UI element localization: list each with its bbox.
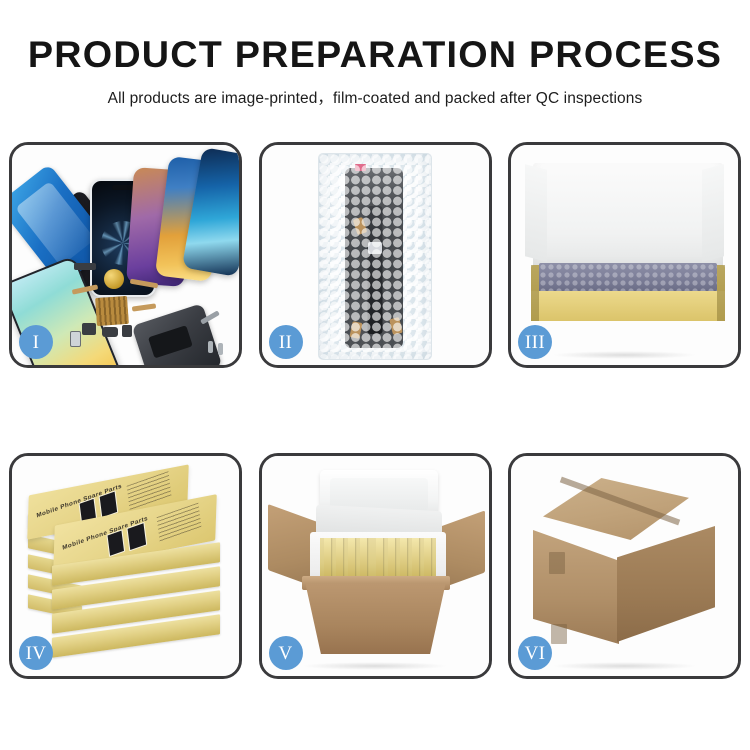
drop-shadow <box>552 662 697 670</box>
carton-body <box>306 584 446 654</box>
box-text-lines-2 <box>157 503 202 543</box>
product-preparation-infographic: PRODUCT PREPARATION PROCESS All products… <box>0 0 750 750</box>
white-connector-icon <box>368 242 382 254</box>
step-card-1[interactable]: I <box>9 142 242 368</box>
box-lid-flap-left <box>525 164 547 261</box>
box-screen-thumb-2b <box>126 522 147 551</box>
box-edge-right <box>717 265 725 321</box>
box-edge-left <box>531 265 539 321</box>
step-badge-2: II <box>269 325 303 359</box>
chip-array-icon <box>95 296 129 326</box>
small-part-icon-3 <box>102 327 118 337</box>
step-badge-5: V <box>269 636 303 670</box>
inner-box-5 <box>376 538 383 580</box>
wrapped-part-strip <box>368 206 383 334</box>
bubble-wrap-bag <box>318 153 432 360</box>
inner-box-1 <box>324 538 331 580</box>
small-part-icon-1 <box>74 263 96 270</box>
step-card-4[interactable]: Mobile Phone Spare Parts Mobile Phone Sp… <box>9 453 242 679</box>
step-card-5[interactable]: V <box>259 453 492 679</box>
step-card-6[interactable]: VI <box>508 453 741 679</box>
small-part-icon-4 <box>122 325 132 337</box>
small-part-icon-2 <box>82 323 96 335</box>
inner-box-3 <box>348 538 355 580</box>
inner-box-7 <box>400 538 407 580</box>
step-badge-3: III <box>518 325 552 359</box>
screw-icon-2 <box>218 343 223 355</box>
drop-shadow <box>552 351 697 359</box>
step-badge-6: VI <box>518 636 552 670</box>
box-lid-flap-right <box>702 164 724 261</box>
inner-box-8 <box>412 538 419 580</box>
inner-box-6 <box>388 538 395 580</box>
phone-back-housing-icon <box>132 303 223 365</box>
box-screen-thumb-2a <box>106 529 125 557</box>
step-badge-4: IV <box>19 636 53 670</box>
inner-box-2 <box>336 538 343 580</box>
yellow-box-front-wall <box>531 291 725 321</box>
header: PRODUCT PREPARATION PROCESS All products… <box>0 0 750 108</box>
small-part-icon-5 <box>70 331 81 347</box>
screw-icon-1 <box>208 341 213 353</box>
page-subtitle: All products are image-printed，film-coat… <box>0 75 750 108</box>
sealed-carton-top <box>543 478 689 540</box>
carton-tape-upper <box>549 552 565 574</box>
inner-box-4 <box>360 538 367 580</box>
inner-box-9 <box>424 538 431 580</box>
step-card-2[interactable]: II <box>259 142 492 368</box>
step-card-3[interactable]: III <box>508 142 741 368</box>
inner-yellow-boxes <box>320 538 436 580</box>
page-title: PRODUCT PREPARATION PROCESS <box>0 0 750 75</box>
carton-tape-lower <box>551 624 567 644</box>
gold-coil-part-icon <box>104 269 124 289</box>
sealed-carton-left-face <box>533 530 619 644</box>
flex-cable-icon-3 <box>132 303 156 311</box>
white-box-lid <box>533 163 723 271</box>
sealed-carton-right-face <box>617 526 715 642</box>
drop-shadow <box>302 662 447 670</box>
pink-label-icon <box>355 164 366 171</box>
box-stack: Mobile Phone Spare Parts Mobile Phone Sp… <box>22 474 238 670</box>
step-badge-1: I <box>19 325 53 359</box>
process-step-grid: I II <box>9 142 741 679</box>
